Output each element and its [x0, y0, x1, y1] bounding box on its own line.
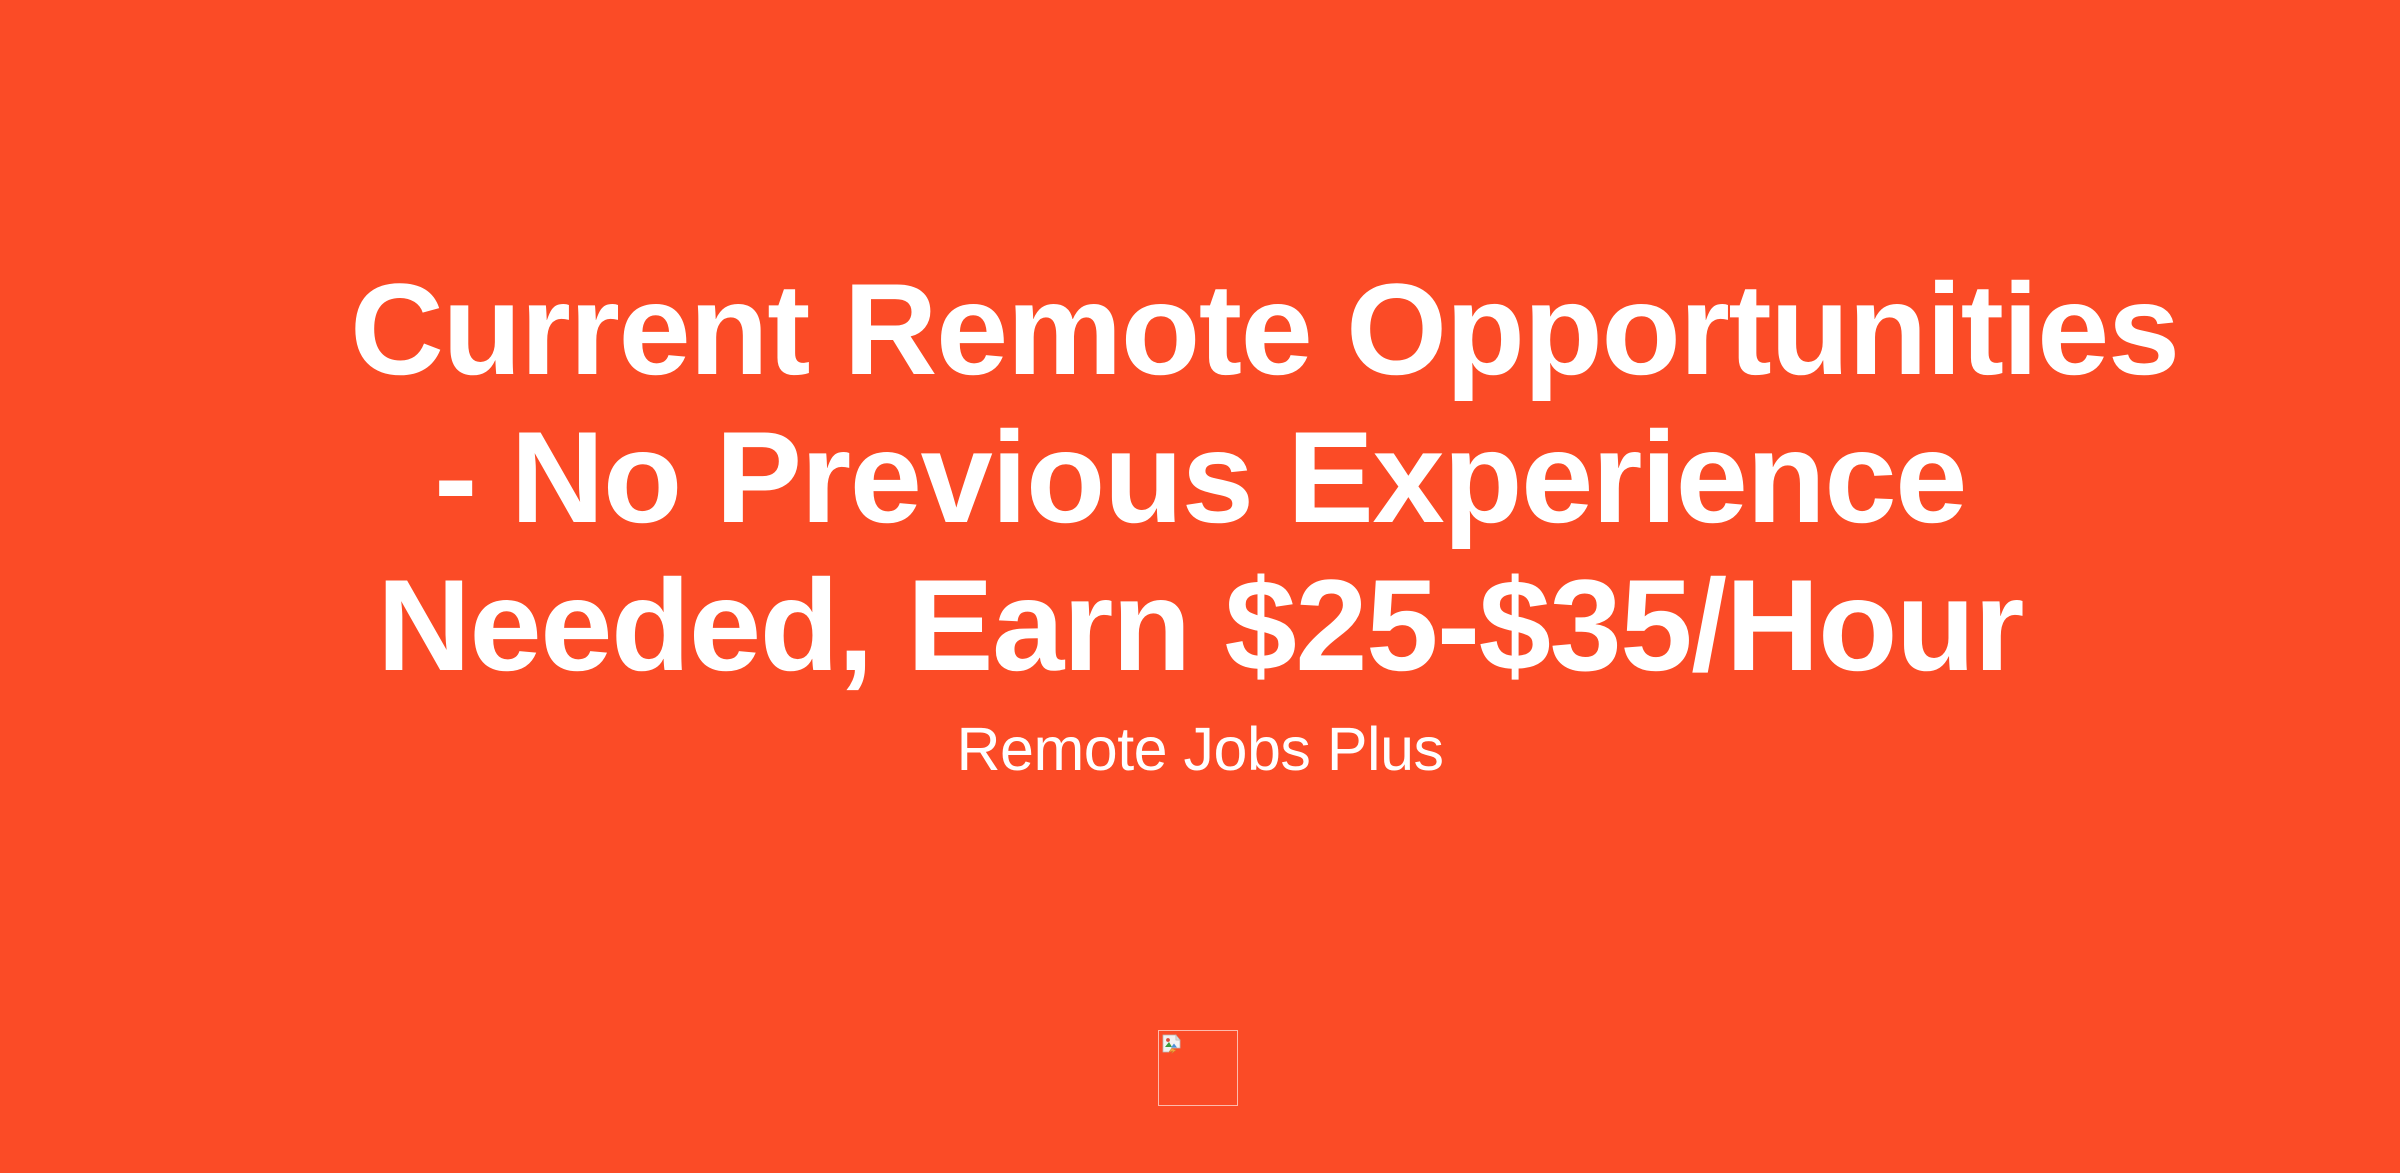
broken-image-icon [1162, 1034, 1184, 1054]
page-title: Current Remote Opportunities - No Previo… [350, 255, 2050, 699]
headline-line-1: Current Remote Opportunities [350, 255, 2050, 403]
hero-section: Current Remote Opportunities - No Previo… [0, 0, 2400, 785]
broken-image-placeholder[interactable] [1158, 1030, 1238, 1106]
page-subtitle: Remote Jobs Plus [957, 713, 1444, 785]
headline-line-3: Needed, Earn $25-$35/Hour [350, 551, 2050, 699]
page-root: Current Remote Opportunities - No Previo… [0, 0, 2400, 1173]
headline-line-2: - No Previous Experience [350, 403, 2050, 551]
